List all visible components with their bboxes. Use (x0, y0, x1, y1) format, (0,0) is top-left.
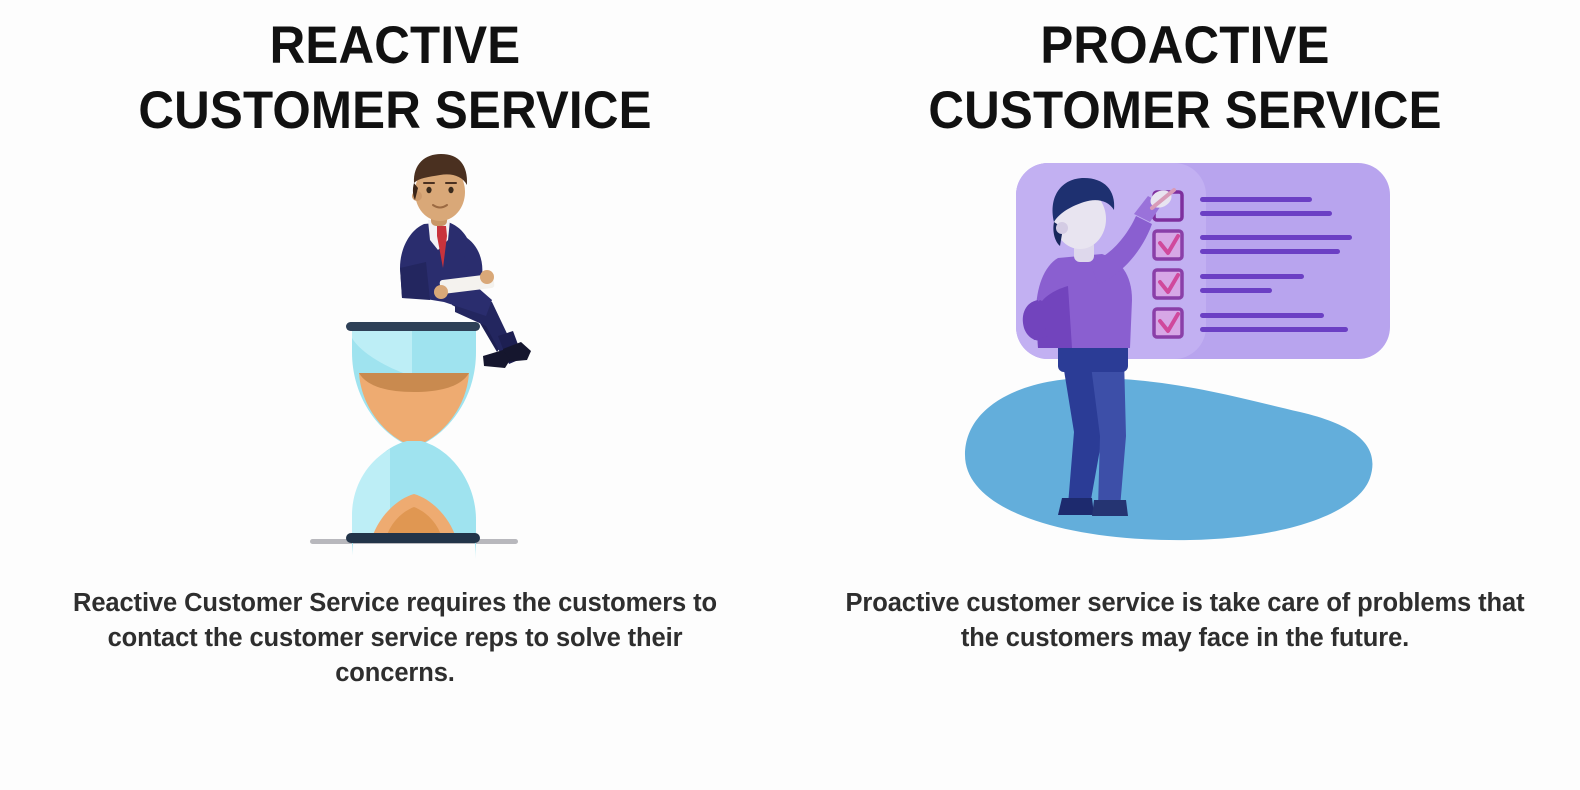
businessman-hand-left (434, 285, 448, 299)
businessman-ear (412, 191, 422, 201)
businessman-hair-side (413, 183, 418, 200)
checklist-line-2b (1200, 249, 1340, 254)
businessman-thigh (420, 277, 492, 316)
businessman-jacket-shadow (400, 262, 430, 300)
hourglass-sand-top-surface (359, 373, 469, 392)
checkbox-2 (1154, 231, 1182, 259)
checklist-line-3a (1200, 274, 1304, 279)
hourglass-glass-bottom-shape (352, 441, 476, 538)
businessman-tie (437, 226, 447, 268)
heading-reactive: REACTIVE CUSTOMER SERVICE (28, 14, 763, 143)
hourglass-sand-bottom (372, 494, 456, 538)
man-hand (1148, 187, 1175, 211)
hourglass-neck (410, 444, 418, 466)
hourglass-glass-top-highlight (352, 329, 412, 376)
heading-proactive: PROACTIVE CUSTOMER SERVICE (818, 14, 1553, 143)
checklist-line-2a (1200, 235, 1352, 240)
man-ear (1056, 222, 1068, 234)
hourglass-glass-bottom-highlight (352, 449, 390, 538)
hourglass-glass-bottom (352, 455, 476, 559)
hourglass-sand-top (359, 373, 469, 454)
businessman-eye-right (448, 187, 453, 193)
caption-proactive: Proactive customer service is take care … (840, 586, 1530, 656)
man-hood (1023, 300, 1048, 341)
hourglass-bottom-bar (346, 533, 480, 543)
man-hair-sideburn (1053, 222, 1063, 246)
check-icon-4 (1160, 314, 1178, 331)
caption-reactive: Reactive Customer Service requires the c… (45, 586, 745, 692)
man-figure (1023, 178, 1175, 516)
man-sweater-shadow (1036, 286, 1072, 348)
checklist-board (1016, 163, 1390, 359)
man-forearm (1134, 196, 1162, 222)
man-front-leg (1090, 358, 1126, 508)
checkbox-4 (1154, 309, 1182, 337)
checkbox-3 (1154, 270, 1182, 298)
check-icon-2 (1160, 236, 1178, 253)
panel-proactive: PROACTIVE CUSTOMER SERVICE (790, 0, 1580, 790)
businessman-front-leg (455, 290, 512, 358)
man-hips (1058, 336, 1128, 372)
businessman-jacket (400, 222, 472, 300)
hourglass-base-line (310, 539, 518, 544)
checkbox-list (1154, 192, 1352, 337)
businessman-hair (414, 154, 467, 185)
man-head (1054, 189, 1106, 249)
checklist-line-3b (1200, 288, 1272, 293)
check-icon-3 (1160, 275, 1178, 292)
man-front-shoe (1092, 500, 1128, 516)
panel-reactive: REACTIVE CUSTOMER SERVICE (0, 0, 790, 790)
checklist-item-2 (1154, 231, 1352, 259)
businessman-mouth (433, 205, 447, 208)
businessman-shirt (428, 220, 450, 250)
man-sweater (1036, 254, 1132, 348)
businessman-head (415, 163, 465, 221)
checklist-item-1 (1154, 192, 1332, 220)
checklist-item-3 (1154, 270, 1304, 298)
hourglass-sand-bottom-dark (386, 507, 442, 538)
businessman-shoe-back (483, 350, 510, 368)
checklist-board-highlight (1016, 163, 1206, 359)
hourglass-glass-top (352, 329, 476, 455)
man-back-leg (1062, 358, 1102, 505)
man-arm-side (1031, 300, 1052, 340)
checkbox-1 (1154, 192, 1182, 220)
hourglass-top-bar (346, 322, 480, 331)
businessman-arm (456, 236, 482, 282)
businessman-figure (400, 154, 531, 368)
ground-blob (965, 378, 1372, 540)
man-back-shoe (1058, 498, 1094, 515)
businessman-notebook (439, 274, 494, 294)
businessman-shin (498, 331, 523, 364)
checklist-line-4b (1200, 327, 1348, 332)
infographic-page: REACTIVE CUSTOMER SERVICE (0, 0, 1580, 790)
pen-icon (1152, 190, 1174, 208)
man-hair (1053, 178, 1115, 222)
man-neck (1074, 240, 1094, 262)
man-arm-raised (1090, 216, 1152, 284)
businessman-neck (431, 208, 447, 226)
businessman-hand-right (480, 270, 494, 284)
checklist-line-4a (1200, 313, 1324, 318)
checklist-line-1b (1200, 211, 1332, 216)
businessman-eye-left (426, 187, 431, 193)
hourglass-sand-stream (412, 455, 416, 530)
businessman-shoe-front (503, 342, 531, 362)
checklist-line-1a (1200, 197, 1312, 202)
checklist-item-4 (1154, 309, 1348, 337)
businessman-back-leg (452, 288, 505, 352)
